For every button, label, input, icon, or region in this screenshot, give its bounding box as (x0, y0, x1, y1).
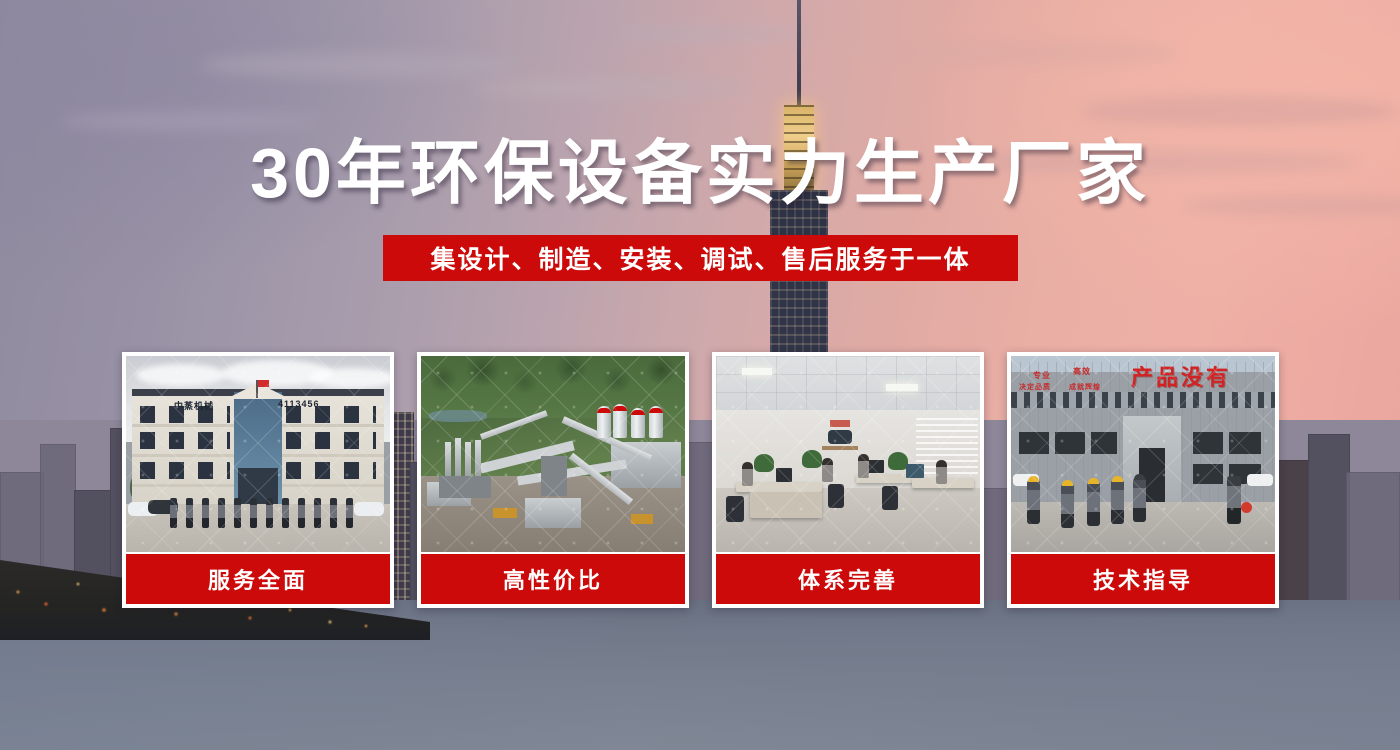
subtitle-banner: 集设计、制造、安装、调试、售后服务于一体 (383, 235, 1018, 281)
photo-plant-aerial (421, 356, 685, 552)
red-helmet-icon (1241, 502, 1252, 513)
factory-sign-small-1: 专业 (1033, 370, 1051, 381)
cloud-icon (470, 78, 750, 98)
photo-factory-workers: 产品没有 专业 高效 决定品质 成就辉煌 (1011, 356, 1275, 552)
card-caption: 体系完善 (716, 554, 980, 604)
photo-office-interior (716, 356, 980, 552)
factory-sign-small-2: 高效 (1073, 366, 1091, 377)
page-title: 30年环保设备实力生产厂家 (0, 138, 1400, 208)
cloud-icon (880, 40, 1180, 66)
cloud-icon (200, 52, 520, 78)
cloud-icon (60, 112, 320, 130)
cloud-icon (610, 26, 810, 42)
feature-card-system[interactable]: 体系完善 (712, 352, 984, 608)
building-signage: 中蒸机械 (174, 399, 214, 412)
feature-card-training[interactable]: 产品没有 专业 高效 决定品质 成就辉煌 (1007, 352, 1279, 608)
cloud-icon (1080, 96, 1400, 126)
factory-sign-large: 产品没有 (1131, 360, 1231, 392)
building-phone-number: 4113456 (278, 399, 320, 409)
feature-card-list: 中蒸机械 4113456 服务全面 (122, 352, 1278, 608)
promo-banner: 30年环保设备实力生产厂家 集设计、制造、安装、调试、售后服务于一体 (0, 0, 1400, 750)
factory-sign-small-3: 决定品质 (1019, 382, 1051, 392)
card-caption: 高性价比 (421, 554, 685, 604)
card-caption: 服务全面 (126, 554, 390, 604)
feature-card-service[interactable]: 中蒸机械 4113456 服务全面 (122, 352, 394, 608)
factory-sign-small-4: 成就辉煌 (1069, 382, 1101, 392)
wall-poster (820, 420, 860, 452)
photo-office-building: 中蒸机械 4113456 (126, 356, 390, 552)
card-caption: 技术指导 (1011, 554, 1275, 604)
subtitle-text: 集设计、制造、安装、调试、售后服务于一体 (430, 240, 970, 276)
tower-spire (797, 0, 801, 108)
feature-card-value[interactable]: 高性价比 (417, 352, 689, 608)
